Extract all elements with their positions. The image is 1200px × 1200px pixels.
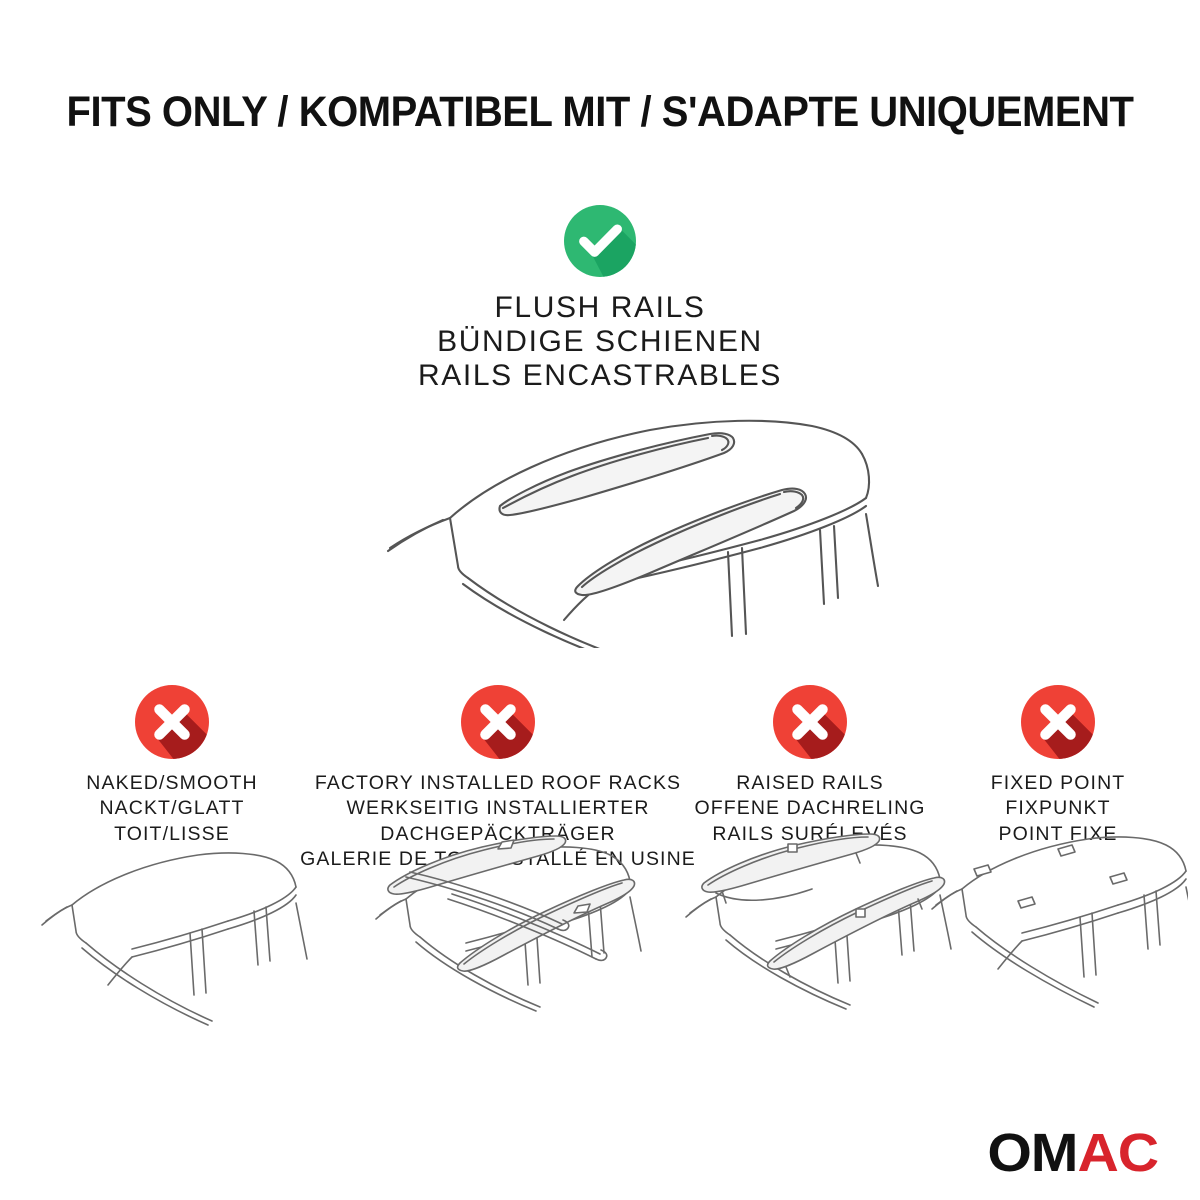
car-roof-with-flush-rails-illustration (350, 398, 890, 648)
x-circle-icon (1021, 685, 1095, 759)
check-circle-icon (564, 205, 636, 277)
x-circle-icon (461, 685, 535, 759)
omac-logo: OMAC (987, 1126, 1158, 1180)
label-de: NACKT/GLATT (32, 796, 312, 821)
x-circle-icon (773, 685, 847, 759)
page-title: FITS ONLY / KOMPATIBEL MIT / S'ADAPTE UN… (42, 88, 1158, 137)
label-en: NAKED/SMOOTH (32, 771, 312, 796)
incompatible-labels: NAKED/SMOOTH NACKT/GLATT TOIT/LISSE (32, 771, 312, 847)
car-roof-with-fixed-points-illustration (928, 831, 1188, 1031)
label-de-line1: WERKSEITIG INSTALLIERTER (300, 796, 696, 821)
label-de: OFFENE DACHRELING (660, 796, 960, 821)
label-en: FACTORY INSTALLED ROOF RACKS (300, 771, 696, 796)
compatible-label-fr: RAILS ENCASTRABLES (0, 359, 1200, 393)
compatible-section: FLUSH RAILS BÜNDIGE SCHIENEN RAILS ENCAS… (0, 205, 1200, 394)
logo-text-red: AC (1077, 1123, 1158, 1183)
compatible-label-en: FLUSH RAILS (0, 291, 1200, 325)
compatible-labels: FLUSH RAILS BÜNDIGE SCHIENEN RAILS ENCAS… (0, 291, 1200, 394)
label-en: FIXED POINT (938, 771, 1178, 796)
logo-text-dark: OM (987, 1123, 1077, 1183)
car-roof-with-factory-roof-racks-illustration (348, 827, 648, 1027)
label-de: FIXPUNKT (938, 796, 1178, 821)
incompatible-item-fixed-point: FIXED POINT FIXPUNKT POINT FIXE (938, 685, 1178, 847)
incompatible-item-naked-smooth: NAKED/SMOOTH NACKT/GLATT TOIT/LISSE (32, 685, 312, 847)
x-circle-icon (135, 685, 209, 759)
incompatible-item-raised-rails: RAISED RAILS OFFENE DACHRELING RAILS SUR… (660, 685, 960, 847)
car-roof-with-raised-rails-illustration (660, 827, 960, 1027)
label-fr: TOIT/LISSE (32, 822, 312, 847)
car-roof-naked-smooth-illustration (32, 845, 312, 1045)
incompatible-item-factory-roof-racks: FACTORY INSTALLED ROOF RACKS WERKSEITIG … (300, 685, 696, 872)
compatible-label-de: BÜNDIGE SCHIENEN (0, 325, 1200, 359)
label-en: RAISED RAILS (660, 771, 960, 796)
